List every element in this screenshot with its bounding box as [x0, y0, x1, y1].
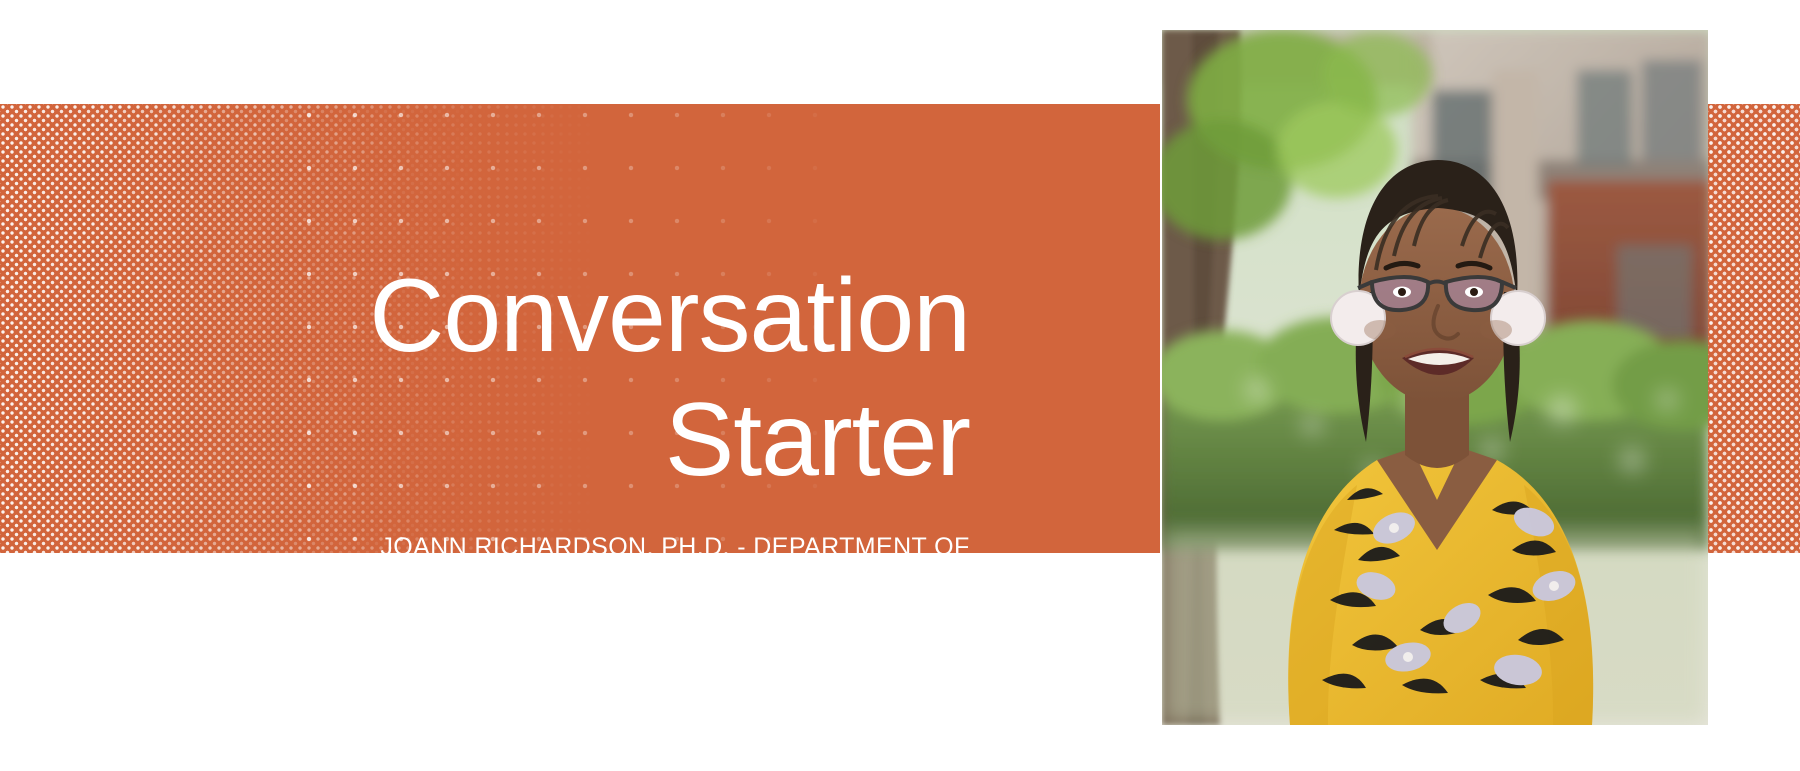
orange-band: Conversation Starter JOANN RICHARDSON, P… — [0, 104, 1160, 553]
page-title: Conversation Starter — [330, 254, 970, 502]
conversation-starter-banner: Conversation Starter JOANN RICHARDSON, P… — [0, 0, 1800, 771]
page-title-line-2: Starter — [330, 378, 970, 502]
portrait-photo — [1162, 30, 1708, 725]
page-subtitle: JOANN RICHARDSON, PH.D. - DEPARTMENT OF … — [380, 529, 970, 553]
halftone-dot-pattern-right-offset — [1708, 104, 1800, 553]
page-title-line-1: Conversation — [330, 254, 970, 378]
portrait-photo-image — [1162, 30, 1708, 725]
orange-edge-strip — [1708, 104, 1800, 553]
page-subtitle-line-1: JOANN RICHARDSON, PH.D. - DEPARTMENT OF — [380, 529, 970, 553]
